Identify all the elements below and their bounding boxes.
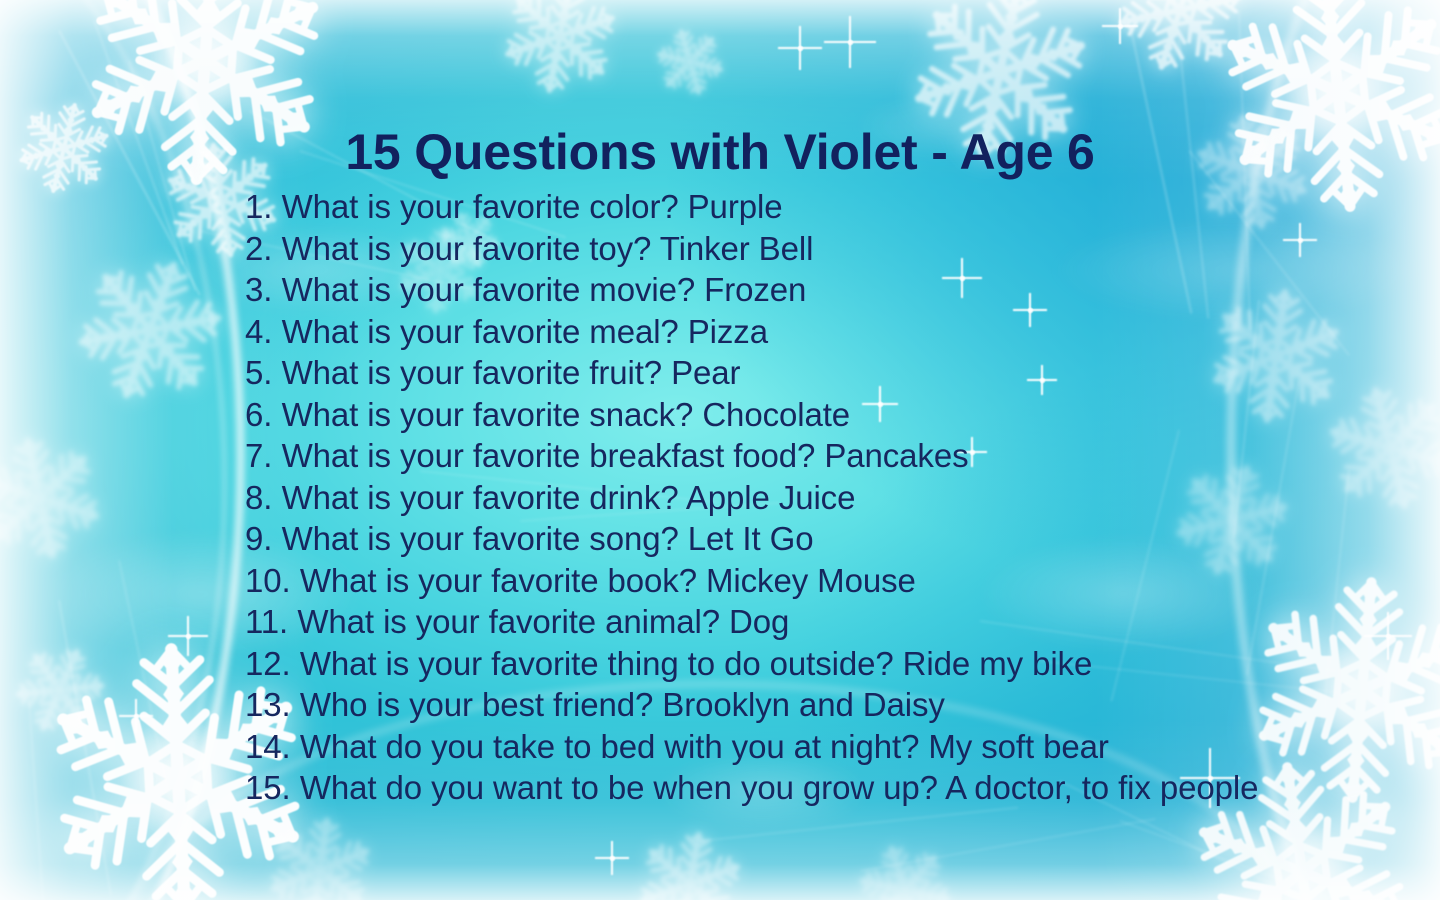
- question-answer-text: What is your favorite fruit? Pear: [282, 354, 741, 391]
- list-item: 10.What is your favorite book? Mickey Mo…: [245, 560, 1405, 602]
- question-answer-text: What is your favorite song? Let It Go: [282, 520, 814, 557]
- question-number: 5.: [245, 354, 272, 391]
- question-number: 9.: [245, 520, 272, 557]
- question-answer-text: Who is your best friend? Brooklyn and Da…: [300, 686, 945, 723]
- question-answer-text: What is your favorite drink? Apple Juice: [282, 479, 856, 516]
- question-number: 10.: [245, 562, 291, 599]
- list-item: 15.What do you want to be when you grow …: [245, 767, 1405, 809]
- question-number: 13.: [245, 686, 291, 723]
- question-answer-text: What is your favorite color? Purple: [282, 188, 783, 225]
- list-item: 3.What is your favorite movie? Frozen: [245, 269, 1405, 311]
- page-title: 15 Questions with Violet - Age 6: [0, 126, 1440, 179]
- list-item: 8.What is your favorite drink? Apple Jui…: [245, 477, 1405, 519]
- list-item: 12.What is your favorite thing to do out…: [245, 643, 1405, 685]
- list-item: 11.What is your favorite animal? Dog: [245, 601, 1405, 643]
- question-answer-text: What is your favorite movie? Frozen: [282, 271, 807, 308]
- questions-list: 1.What is your favorite color? Purple2.W…: [245, 186, 1405, 809]
- list-item: 2.What is your favorite toy? Tinker Bell: [245, 228, 1405, 270]
- question-number: 8.: [245, 479, 272, 516]
- question-number: 14.: [245, 728, 291, 765]
- question-number: 12.: [245, 645, 291, 682]
- question-number: 7.: [245, 437, 272, 474]
- question-answer-text: What is your favorite toy? Tinker Bell: [282, 230, 814, 267]
- question-answer-text: What is your favorite book? Mickey Mouse: [300, 562, 916, 599]
- list-item: 14.What do you take to bed with you at n…: [245, 726, 1405, 768]
- question-answer-text: What is your favorite snack? Chocolate: [282, 396, 850, 433]
- question-number: 3.: [245, 271, 272, 308]
- question-number: 6.: [245, 396, 272, 433]
- question-number: 11.: [245, 603, 288, 640]
- question-answer-text: What do you take to bed with you at nigh…: [300, 728, 1109, 765]
- question-number: 4.: [245, 313, 272, 350]
- question-answer-text: What do you want to be when you grow up?…: [300, 769, 1259, 806]
- list-item: 1.What is your favorite color? Purple: [245, 186, 1405, 228]
- question-answer-text: What is your favorite thing to do outsid…: [300, 645, 1092, 682]
- list-item: 9.What is your favorite song? Let It Go: [245, 518, 1405, 560]
- question-answer-text: What is your favorite breakfast food? Pa…: [282, 437, 969, 474]
- list-item: 6.What is your favorite snack? Chocolate: [245, 394, 1405, 436]
- question-number: 15.: [245, 769, 291, 806]
- question-number: 1.: [245, 188, 272, 225]
- list-item: 13.Who is your best friend? Brooklyn and…: [245, 684, 1405, 726]
- list-item: 4.What is your favorite meal? Pizza: [245, 311, 1405, 353]
- list-item: 5.What is your favorite fruit? Pear: [245, 352, 1405, 394]
- question-answer-text: What is your favorite meal? Pizza: [282, 313, 768, 350]
- question-answer-text: What is your favorite animal? Dog: [297, 603, 789, 640]
- slide-content: 15 Questions with Violet - Age 6 1.What …: [0, 0, 1440, 900]
- question-number: 2.: [245, 230, 272, 267]
- list-item: 7.What is your favorite breakfast food? …: [245, 435, 1405, 477]
- winter-questions-slide: 15 Questions with Violet - Age 6 1.What …: [0, 0, 1440, 900]
